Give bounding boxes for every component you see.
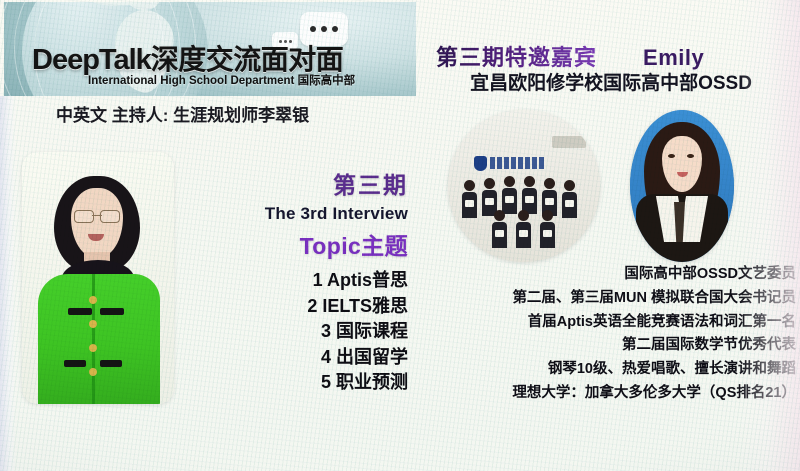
jacket-pocket bbox=[100, 360, 122, 367]
jacket-button bbox=[89, 344, 97, 352]
guest-school: 宜昌欧阳修学校国际高中部OSSD bbox=[430, 68, 792, 95]
left-edge-strip bbox=[0, 96, 16, 471]
guest-title-row: 第三期特邀嘉宾Emily bbox=[436, 40, 786, 68]
list-item: 4 出国留学 bbox=[196, 345, 408, 371]
banner-title-cn: 深度交流面对面 bbox=[151, 44, 344, 75]
bio-line: 理想大学：加拿大多伦多大学（QS排名21） bbox=[424, 383, 796, 405]
school-banner bbox=[474, 154, 546, 172]
jacket-button bbox=[89, 368, 97, 376]
student-figure bbox=[502, 176, 517, 214]
student-figure bbox=[540, 210, 555, 248]
list-item: 3 国际课程 bbox=[196, 319, 408, 345]
glasses-icon bbox=[74, 210, 120, 221]
jacket-pocket bbox=[100, 308, 124, 315]
student-figure bbox=[516, 210, 531, 248]
jacket-pocket bbox=[64, 360, 86, 367]
banner-subtitle: International High School Department 国际高… bbox=[88, 72, 416, 88]
jacket-pocket bbox=[68, 308, 92, 315]
guest-bio: 国际高中部OSSD文艺委员 第二届、第三届MUN 模拟联合国大会书记员 首届Ap… bbox=[424, 264, 796, 407]
list-item: 1 Aptis普思 bbox=[196, 268, 408, 294]
school-banner-text bbox=[490, 157, 546, 169]
deeptalk-banner: DeepTalk深度交流面对面 International High Schoo… bbox=[4, 2, 416, 96]
student-figure bbox=[522, 176, 537, 214]
presentation-slide: DeepTalk深度交流面对面 International High Schoo… bbox=[0, 0, 800, 471]
bio-line: 国际高中部OSSD文艺委员 bbox=[424, 264, 796, 286]
jacket-button bbox=[89, 320, 97, 328]
host-photo bbox=[22, 152, 174, 404]
bio-line: 第二届、第三届MUN 模拟联合国大会书记员 bbox=[424, 288, 796, 310]
host-green-jacket bbox=[38, 274, 160, 404]
school-crest-icon bbox=[474, 156, 487, 171]
topic-block: 第三期 The 3rd Interview Topic主题 1 Aptis普思 … bbox=[196, 166, 408, 412]
portrait-eye bbox=[668, 154, 675, 158]
student-figure bbox=[462, 180, 477, 218]
issue-number: 第三期 bbox=[196, 166, 408, 200]
topic-heading: Topic主题 bbox=[196, 227, 408, 261]
host-line: 中英文 主持人: 生涯规划师李翠银 bbox=[56, 101, 386, 126]
wall-vent bbox=[552, 136, 586, 148]
student-figure bbox=[492, 210, 507, 248]
list-item: 2 IELTS雅思 bbox=[196, 294, 408, 320]
group-award-photo bbox=[448, 110, 600, 262]
bio-line: 第二届国际数学节优秀代表 bbox=[424, 335, 796, 357]
topic-list: 1 Aptis普思 2 IELTS雅思 3 国际课程 4 出国留学 5 职业预测 bbox=[196, 268, 408, 396]
bio-line: 首届Aptis英语全能竞赛语法和词汇第一名 bbox=[424, 312, 796, 334]
student-figure bbox=[562, 180, 577, 218]
portrait-eye bbox=[687, 154, 694, 158]
guest-name: Emily bbox=[643, 45, 704, 70]
issue-english: The 3rd Interview bbox=[196, 204, 408, 224]
jacket-button bbox=[89, 296, 97, 304]
list-item: 5 职业预测 bbox=[196, 370, 408, 396]
guest-title: 第三期特邀嘉宾 bbox=[436, 45, 597, 70]
guest-portrait-photo bbox=[630, 110, 734, 262]
bio-line: 钢琴10级、热爱唱歌、擅长演讲和舞蹈 bbox=[424, 359, 796, 381]
